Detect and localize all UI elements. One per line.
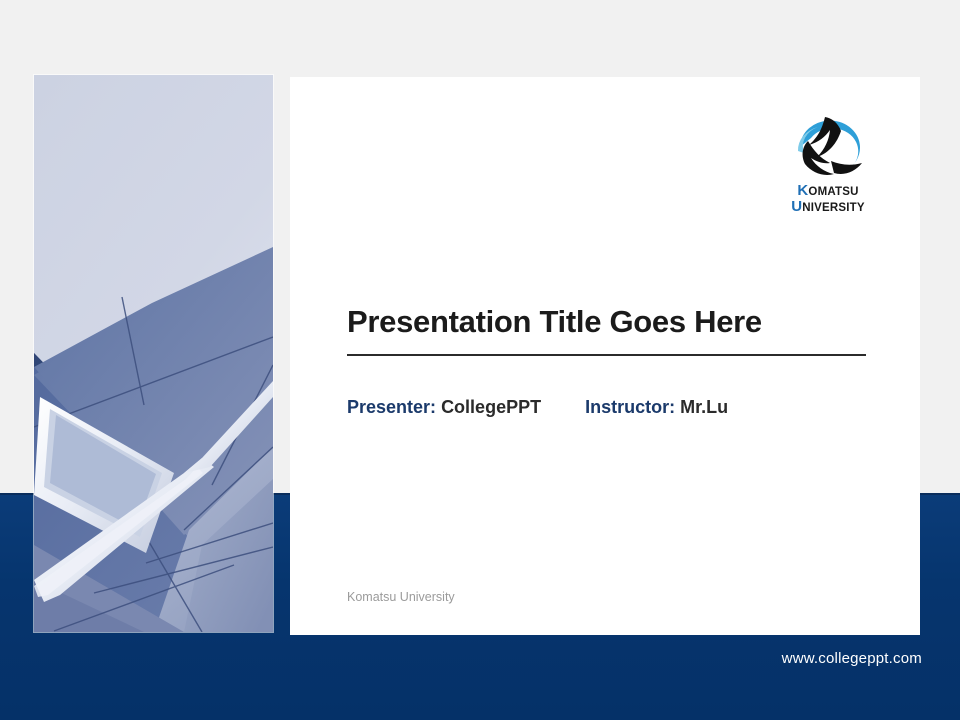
logo-name-line-1: KOMATSU [778, 183, 878, 199]
instructor-label: Instructor: [585, 397, 675, 417]
slide-footer-text: Komatsu University [347, 590, 455, 604]
title-underline-rule [347, 354, 866, 356]
logo-komatsu-rest: OMATSU [808, 186, 858, 198]
slide-canvas: www.collegeppt.com [0, 0, 960, 720]
komatsu-university-logo: KOMATSU UNIVERSITY [778, 111, 878, 216]
byline: Presenter: CollegePPT Instructor: Mr.Lu [347, 397, 728, 418]
bird-swoosh-arc-icon [778, 111, 878, 183]
title-block: Presentation Title Goes Here [347, 304, 867, 356]
page-title[interactable]: Presentation Title Goes Here [347, 304, 867, 340]
architectural-building-facade-photo [34, 75, 273, 632]
architecture-photo-panel [34, 75, 273, 632]
logo-name-line-2: UNIVERSITY [778, 199, 878, 215]
presenter-label: Presenter: [347, 397, 436, 417]
website-url[interactable]: www.collegeppt.com [782, 650, 922, 667]
logo-u-cap: U [791, 198, 802, 215]
presenter-value[interactable]: CollegePPT [441, 397, 541, 417]
slide-body: KOMATSU UNIVERSITY Presentation Title Go… [290, 77, 920, 635]
logo-k-cap: K [797, 182, 808, 199]
logo-university-rest: NIVERSITY [802, 202, 865, 214]
instructor-value[interactable]: Mr.Lu [680, 397, 728, 417]
